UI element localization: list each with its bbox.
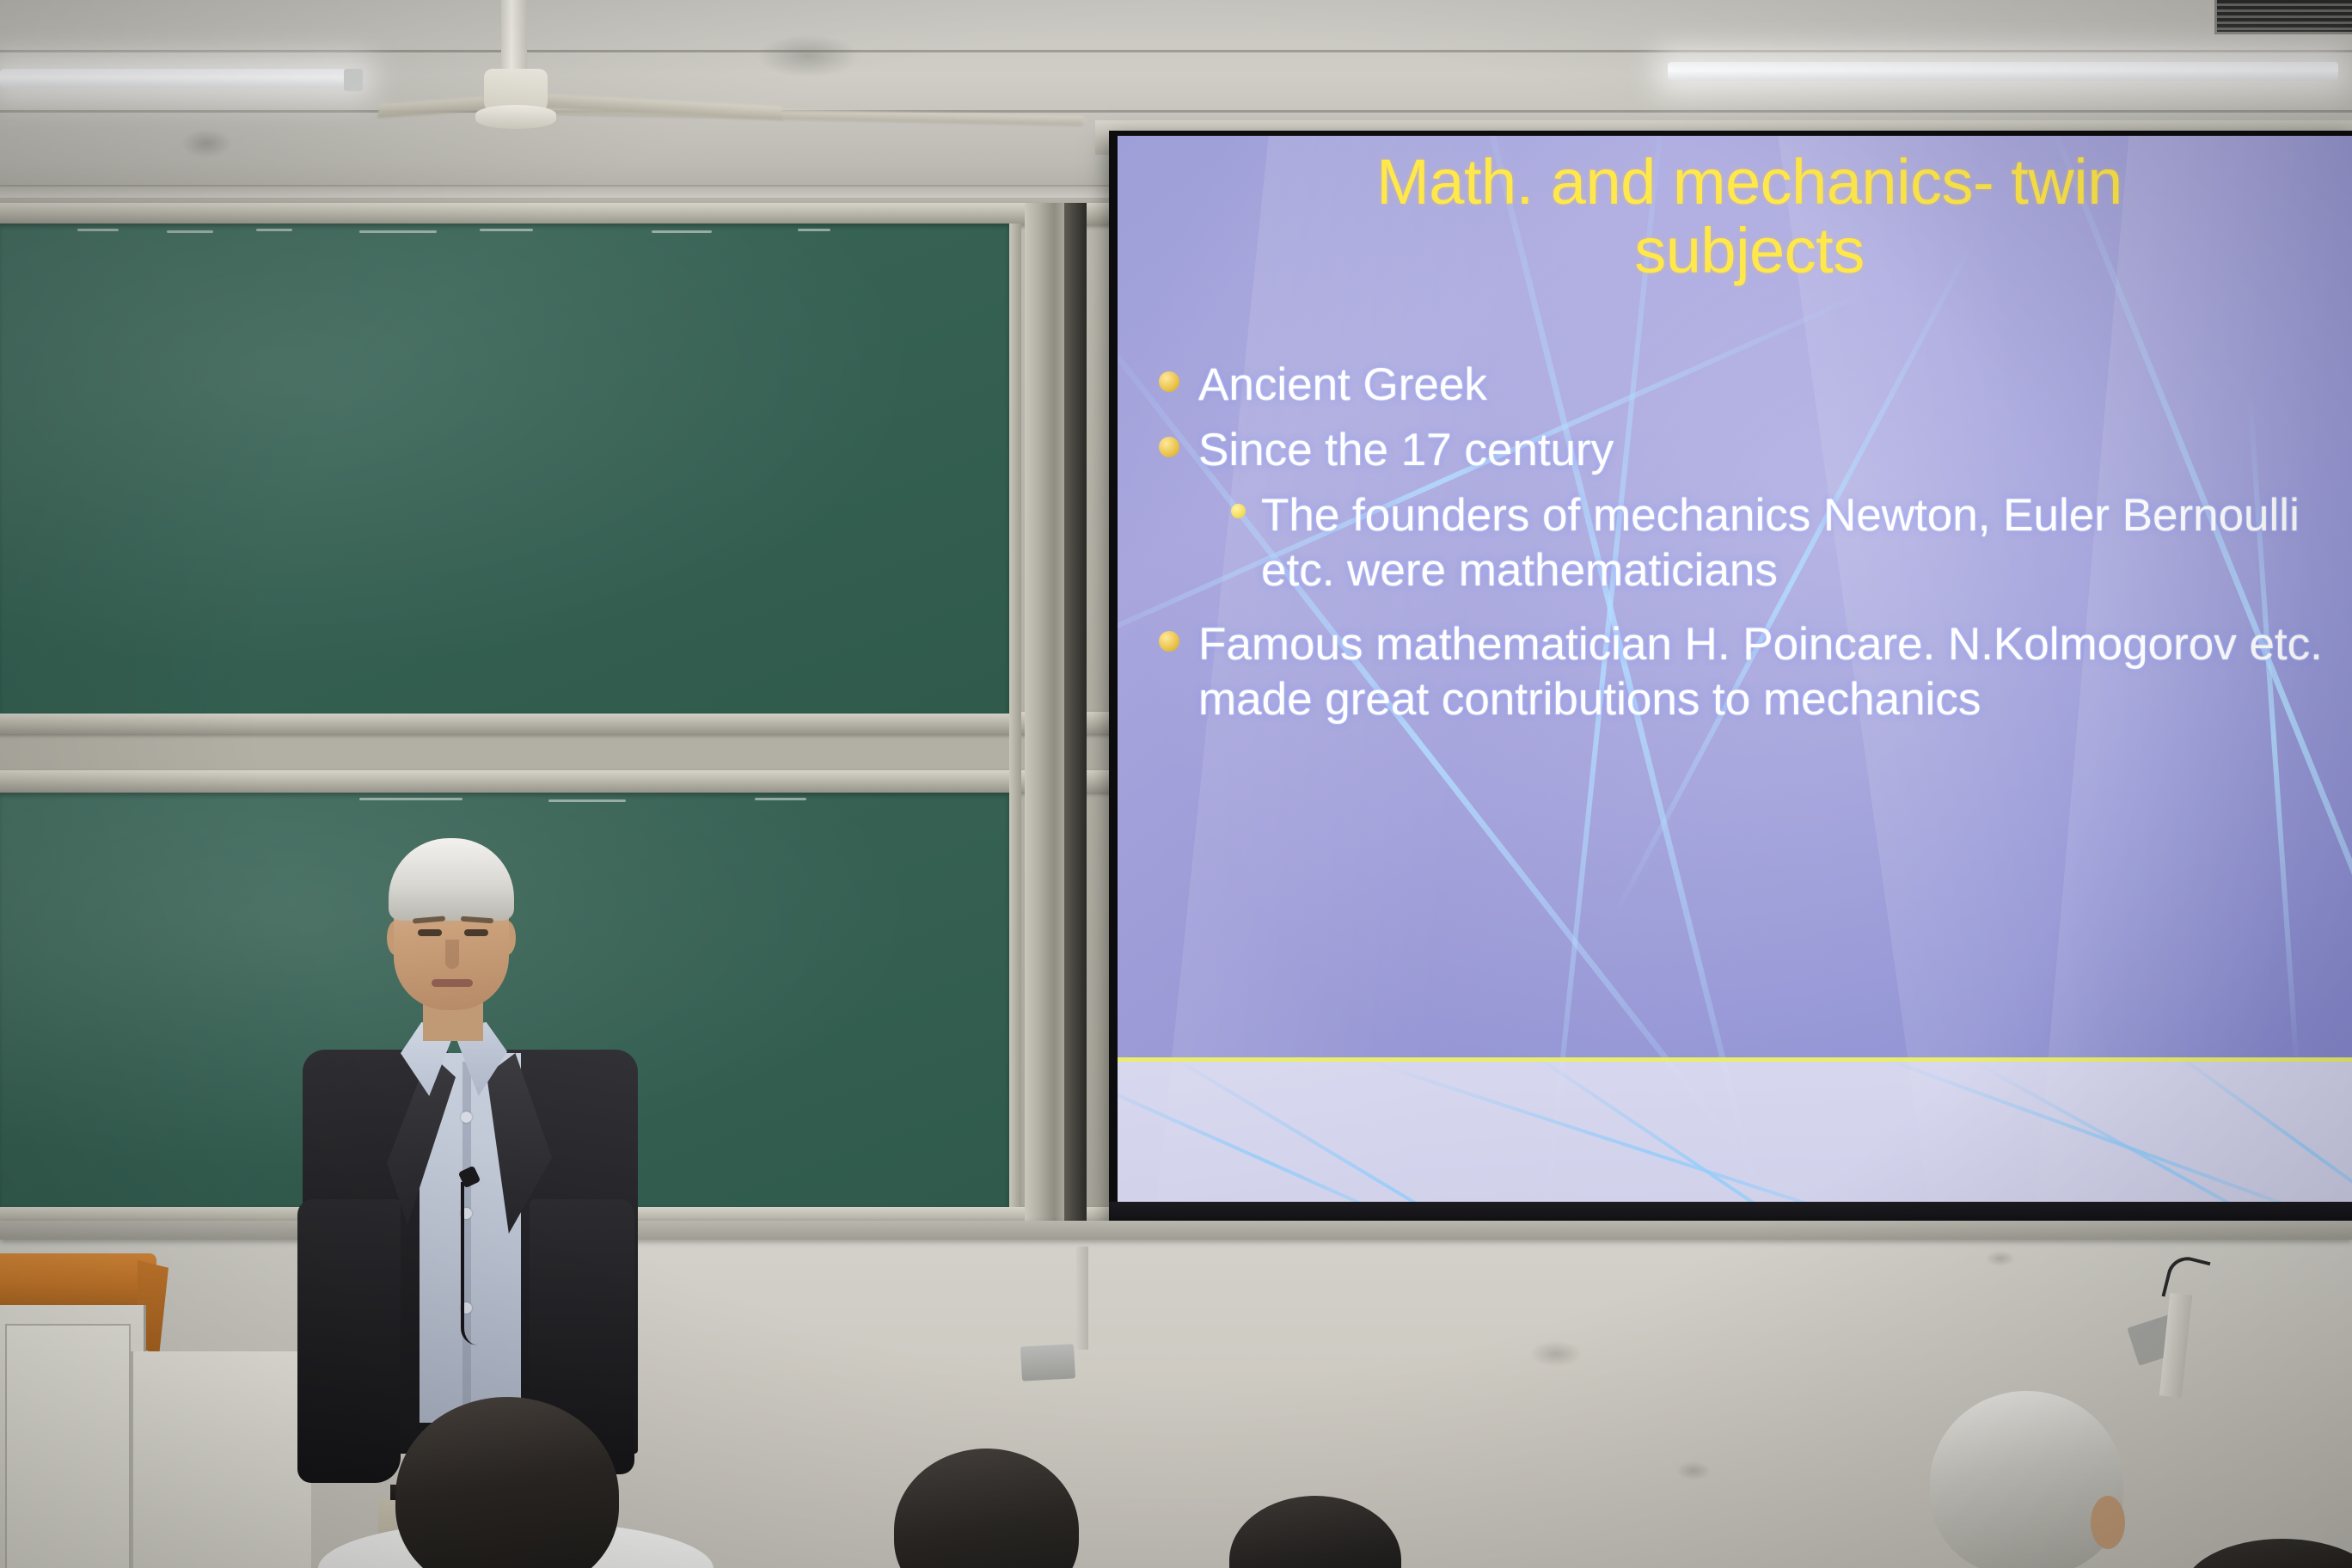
air-conditioning-vent-icon (2214, 0, 2352, 34)
bullet-dot-icon (1159, 631, 1179, 652)
audience-member-head (1930, 1391, 2123, 1568)
wall-scuff (1676, 1461, 1711, 1480)
blackboard-panel-upper[interactable] (0, 224, 1009, 714)
bullet-dot-icon (1159, 371, 1179, 392)
ceiling-fan-hub (475, 105, 556, 129)
ceiling-seam (0, 110, 2352, 113)
blackboard-post-shadow (1064, 203, 1087, 1234)
presenter-nose (445, 940, 459, 969)
blackboard-middle-rail (0, 712, 1126, 734)
tube-light-end-cap (344, 69, 363, 91)
podium-shelf (131, 1351, 311, 1568)
slide-title-line2: subjects (1118, 217, 2352, 285)
slide-footer-band (1118, 1057, 2352, 1221)
slide-sub-bullet-text: The founders of mechanics Newton, Euler … (1261, 488, 2352, 598)
presenter-eye (464, 929, 488, 936)
slide-bullet-text: Ancient Greek (1198, 358, 1487, 413)
slide-title: Math. and mechanics- twin subjects (1118, 148, 2352, 285)
ceiling-smudge (181, 129, 232, 158)
slide-bullet-text: Since the 17 century (1198, 423, 1614, 478)
wall-scuff (1530, 1341, 1582, 1367)
presenter-mouth (432, 979, 473, 987)
blackboard-divider (1009, 224, 1021, 1207)
fluorescent-tube-light (0, 69, 361, 88)
shirt-button (461, 1112, 472, 1123)
lecture-hall-photo: Math. and mechanics- twin subjects Ancie… (0, 0, 2352, 1568)
slide-bullet-item: Ancient Greek (1159, 358, 2352, 413)
cable-conduit (1076, 1246, 1088, 1350)
podium-wood-top[interactable] (0, 1253, 156, 1307)
projector-screen[interactable]: Math. and mechanics- twin subjects Ancie… (1118, 136, 2352, 1221)
microphone-wire (461, 1182, 478, 1345)
slide-bullet-item: Since the 17 century (1159, 423, 2352, 478)
presenter-sleeve-left (297, 1199, 401, 1483)
wall-speaker (1020, 1344, 1075, 1381)
slide-bullet-list: Ancient Greek Since the 17 century The f… (1159, 358, 2352, 738)
presenter-eye (418, 929, 442, 936)
slide-bullet-item: Famous mathematician H. Poincare. N.Kolm… (1159, 617, 2352, 727)
ceiling-fan-rod (501, 0, 527, 74)
presenter-hair (389, 838, 514, 921)
blackboard-post (1025, 203, 1064, 1234)
ceiling-smudge (756, 34, 860, 77)
sub-bullet-dot-icon (1231, 504, 1246, 518)
bullet-dot-icon (1159, 437, 1179, 457)
wall-scuff (1986, 1251, 2015, 1266)
blackboard-top-rail (0, 203, 1126, 225)
fluorescent-tube-light (1668, 62, 2338, 81)
slide-bullet-text: Famous mathematician H. Poincare. N.Kolm… (1198, 617, 2352, 727)
slide-sub-bullet-item: The founders of mechanics Newton, Euler … (1231, 488, 2352, 598)
audience-member-ear (2091, 1496, 2125, 1549)
podium-panel (5, 1324, 131, 1568)
blackboard-middle-rail-lower (0, 770, 1126, 793)
ceiling-seam (0, 50, 2352, 52)
slide-title-line1: Math. and mechanics- twin (1376, 146, 2122, 217)
